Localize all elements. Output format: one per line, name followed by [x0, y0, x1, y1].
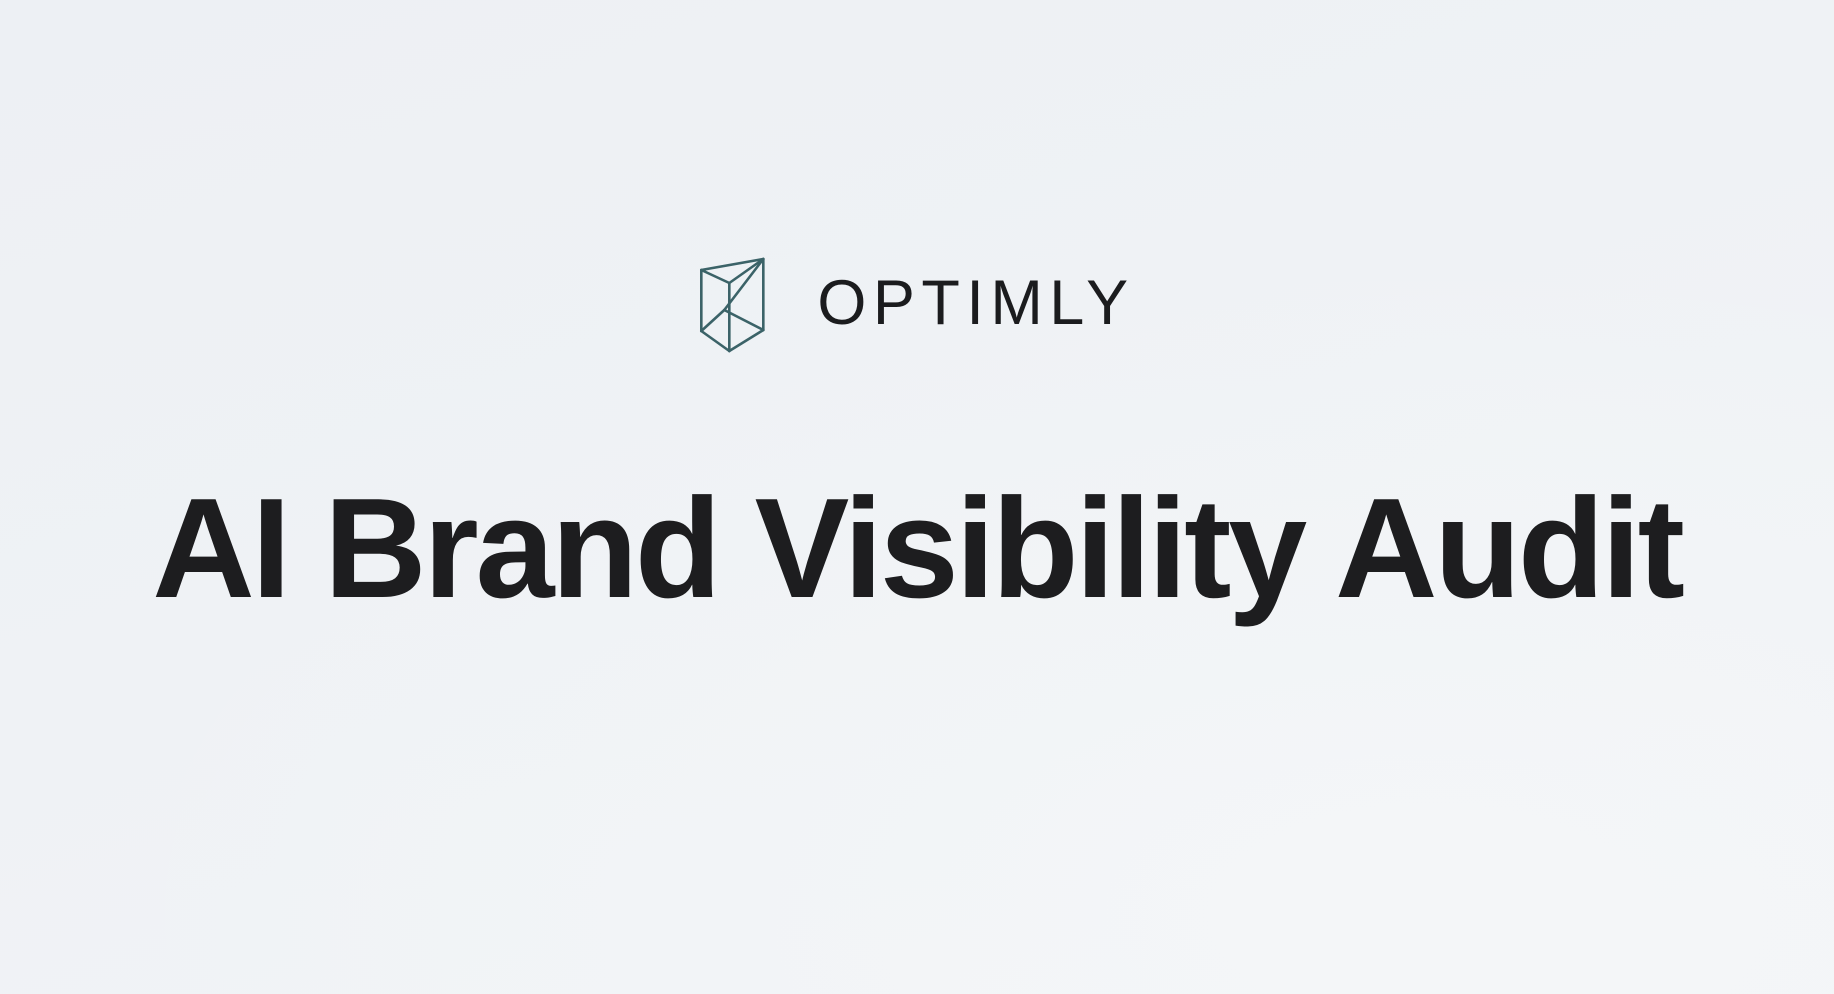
prism-wireframe-icon — [699, 257, 765, 353]
page-title: AI Brand Visibility Audit — [0, 474, 1834, 625]
title-slide: OPTIMLY AI Brand Visibility Audit — [0, 0, 1834, 994]
brand-lockup: OPTIMLY — [699, 257, 1134, 353]
brand-wordmark: OPTIMLY — [817, 272, 1134, 339]
